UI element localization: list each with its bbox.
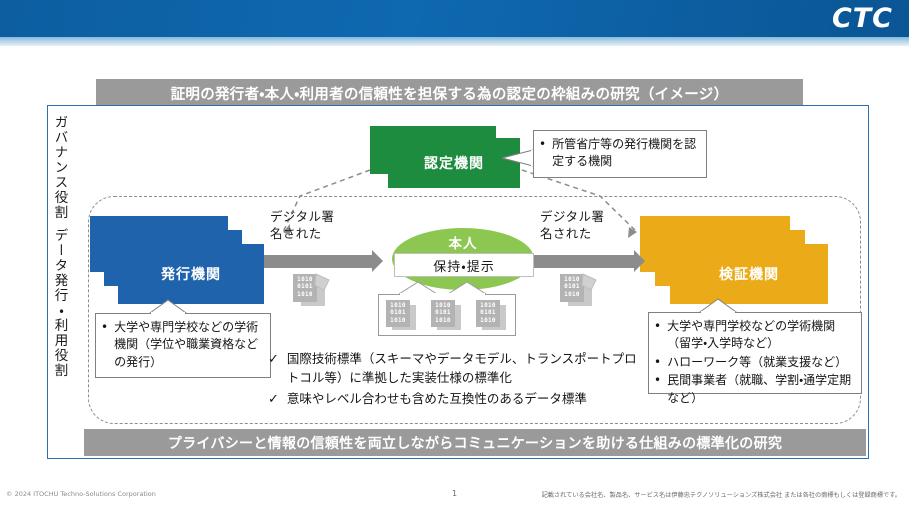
binary-line-3: 1010	[476, 317, 500, 324]
callout-accreditor-text: 所管省庁等の発行機関を認定する機関	[552, 136, 699, 171]
binary-line-3: 1010	[431, 317, 455, 324]
binary-line-1: 1010	[386, 302, 410, 309]
callout-issuer-item: • 大学や専門学校などの学術機関（学位や職業資格などの発行）	[101, 319, 263, 371]
arrow-caption-left-line2: 名された	[270, 226, 334, 243]
issuer-card-front: 発行機関	[118, 244, 264, 304]
checklist-item: ✓ 意味やレベル合わせも含めた互換性のあるデータ標準	[268, 390, 646, 410]
arrow-caption-right: デジタル署 名された	[540, 209, 604, 243]
arrow-caption-left-line1: デジタル署	[270, 209, 334, 226]
callout-issuer: • 大学や専門学校などの学術機関（学位や職業資格などの発行）	[95, 313, 271, 378]
bullet-icon: •	[101, 319, 108, 371]
verifier-label: 検証機関	[719, 264, 779, 284]
bullet-icon: •	[654, 372, 661, 407]
binary-line-3: 1010	[386, 317, 410, 324]
node-issuer[interactable]: 発行機関	[90, 216, 266, 306]
wallet-credential-2: 1010 0101 1010	[431, 300, 463, 330]
node-verifier[interactable]: 検証機関	[640, 216, 830, 306]
bullet-icon: •	[539, 136, 546, 171]
callout-verifier: • 大学や専門学校などの学術機関（留学・入学時など） • ハローワーク等（就業支…	[648, 312, 862, 394]
arrow-issuer-to-holder	[264, 255, 372, 268]
callout-accreditor-item: • 所管省庁等の発行機関を認定する機関	[539, 136, 699, 171]
footer-trademark: 記載されている会社名、製品名、サービス名は伊藤忠テクノソリューションズ株式会社 …	[542, 490, 901, 499]
bottom-banner-text: プライバシーと情報の信頼性を両立しながらコミュニケーションを助ける仕組みの標準化…	[168, 433, 782, 453]
binary-line-2: 0101	[476, 309, 500, 316]
slide-header-gradient-strip	[0, 37, 909, 46]
callout-verifier-text-3: 民間事業者（就職、学割・通学定期など）	[667, 372, 854, 407]
binary-line-2: 0101	[386, 309, 410, 316]
check-icon: ✓	[268, 350, 279, 388]
role-label-governance: ガバナンス役割	[52, 115, 66, 220]
ctc-logo: CTC	[832, 3, 893, 34]
slide-title-banner: 証明の発行者・本人・利用者の信頼性を担保する為の認定の枠組みの研究（イメージ）	[96, 79, 803, 107]
standardization-checklist: ✓ 国際技術標準（スキーマやデータモデル、トランスポートプロトコル等）に準拠した…	[268, 350, 646, 411]
checklist-item: ✓ 国際技術標準（スキーマやデータモデル、トランスポートプロトコル等）に準拠した…	[268, 350, 646, 388]
slide-root: CTC 証明の発行者・本人・利用者の信頼性を担保する為の認定の枠組みの研究（イメ…	[0, 0, 909, 510]
callout-verifier-item: • 大学や専門学校などの学術機関（留学・入学時など）	[654, 318, 854, 353]
wallet-credential-3: 1010 0101 1010	[476, 300, 508, 330]
callout-verifier-text-2: ハローワーク等（就業支援など）	[667, 354, 854, 371]
holder-label: 本人	[392, 232, 534, 252]
arrow-caption-right-line2: 名された	[540, 226, 604, 243]
holder-sub-label: 保持・提示	[433, 256, 494, 275]
arrow-caption-left: デジタル署 名された	[270, 209, 334, 243]
credential-wallet-icon: 1010 0101 1010 1010 0101 1010 1010 0101 …	[378, 294, 516, 336]
signed-credential-icon-right: 1010 0101 1010	[560, 272, 600, 306]
bullet-icon: •	[654, 318, 661, 353]
check-icon: ✓	[268, 390, 279, 410]
checklist-text-2: 意味やレベル合わせも含めた互換性のあるデータ標準	[287, 390, 646, 410]
accreditor-label: 認定機関	[424, 153, 484, 173]
page-title: 証明の発行者・本人・利用者の信頼性を担保する為の認定の枠組みの研究（イメージ）	[171, 83, 729, 104]
bottom-banner: プライバシーと情報の信頼性を両立しながらコミュニケーションを助ける仕組みの標準化…	[84, 429, 866, 456]
callout-accreditor: • 所管省庁等の発行機関を認定する機関	[533, 130, 707, 178]
binary-line-2: 0101	[431, 309, 455, 316]
checklist-text-1: 国際技術標準（スキーマやデータモデル、トランスポートプロトコル等）に準拠した実装…	[287, 350, 646, 388]
role-label-data: データ発行・利用役割	[52, 228, 66, 378]
node-accreditor[interactable]: 認定機関	[370, 126, 522, 188]
slide-header-bar	[0, 0, 909, 37]
callout-verifier-item: • ハローワーク等（就業支援など）	[654, 354, 854, 371]
bullet-icon: •	[654, 354, 661, 371]
callout-issuer-text: 大学や専門学校などの学術機関（学位や職業資格などの発行）	[114, 319, 263, 371]
verifier-card-front: 検証機関	[670, 244, 828, 304]
holder-action-band: 保持・提示	[394, 253, 534, 277]
arrow-caption-right-line1: デジタル署	[540, 209, 604, 226]
wallet-credential-1: 1010 0101 1010	[386, 300, 418, 330]
callout-verifier-text-1: 大学や専門学校などの学術機関（留学・入学時など）	[667, 318, 854, 353]
accreditor-card-front: 認定機関	[388, 138, 520, 188]
binary-line-1: 1010	[476, 302, 500, 309]
binary-line-1: 1010	[431, 302, 455, 309]
callout-verifier-item: • 民間事業者（就職、学割・通学定期など）	[654, 372, 854, 407]
arrow-holder-to-verifier	[534, 255, 634, 268]
signed-credential-icon-left: 1010 0101 1010	[293, 272, 333, 306]
issuer-label: 発行機関	[161, 264, 221, 284]
